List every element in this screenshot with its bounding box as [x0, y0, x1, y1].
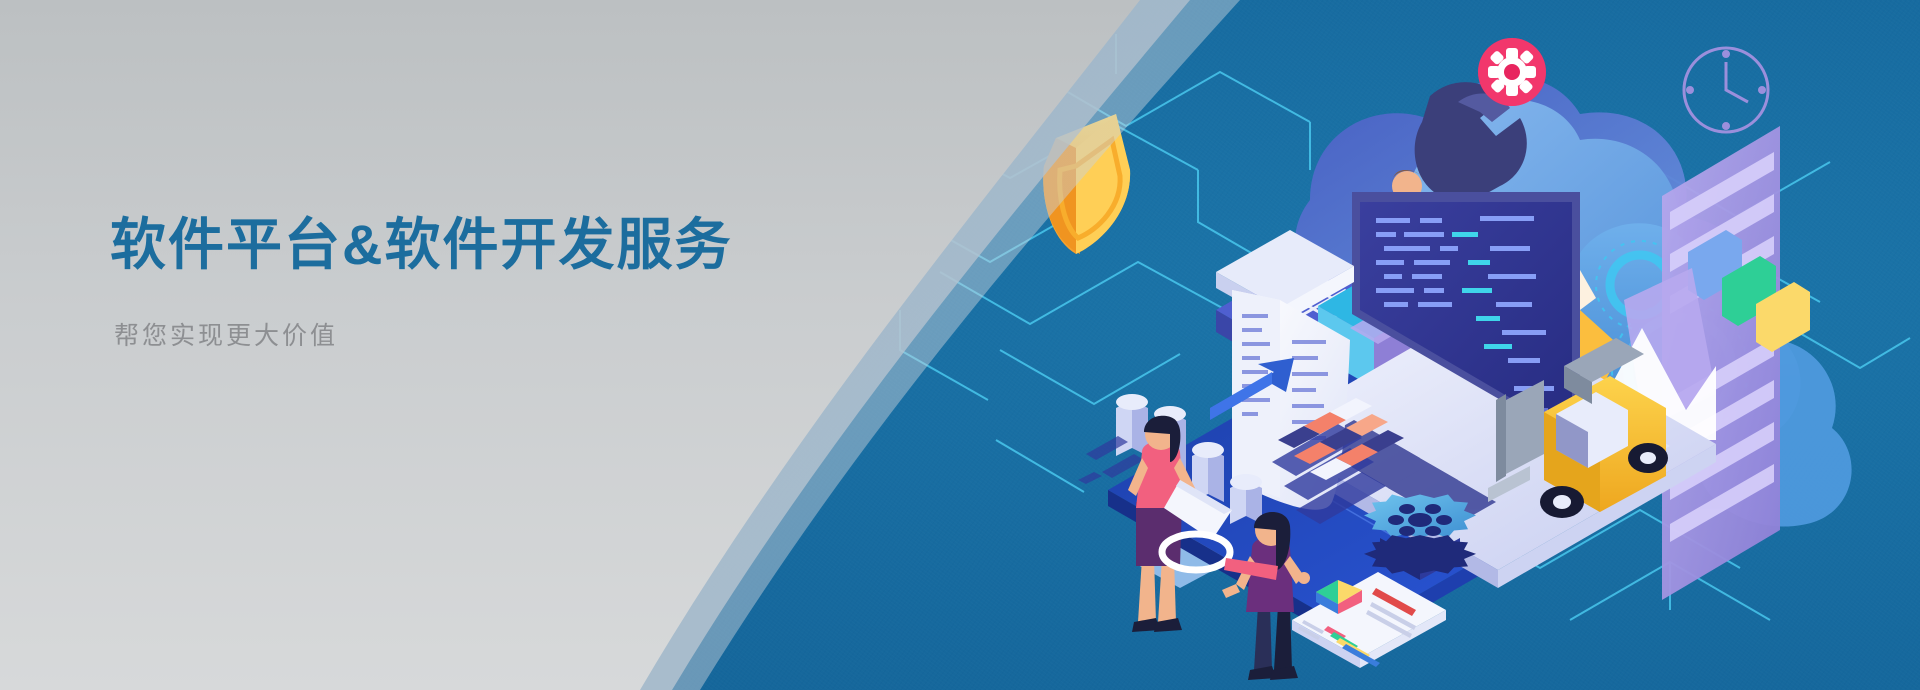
hero-copy: 软件平台&软件开发服务 帮您实现更大价值: [110, 212, 830, 352]
page-subtitle: 帮您实现更大价值: [114, 316, 830, 352]
page-title: 软件平台&软件开发服务: [110, 212, 830, 278]
hero-banner: 软件平台&软件开发服务 帮您实现更大价值: [0, 0, 1920, 690]
